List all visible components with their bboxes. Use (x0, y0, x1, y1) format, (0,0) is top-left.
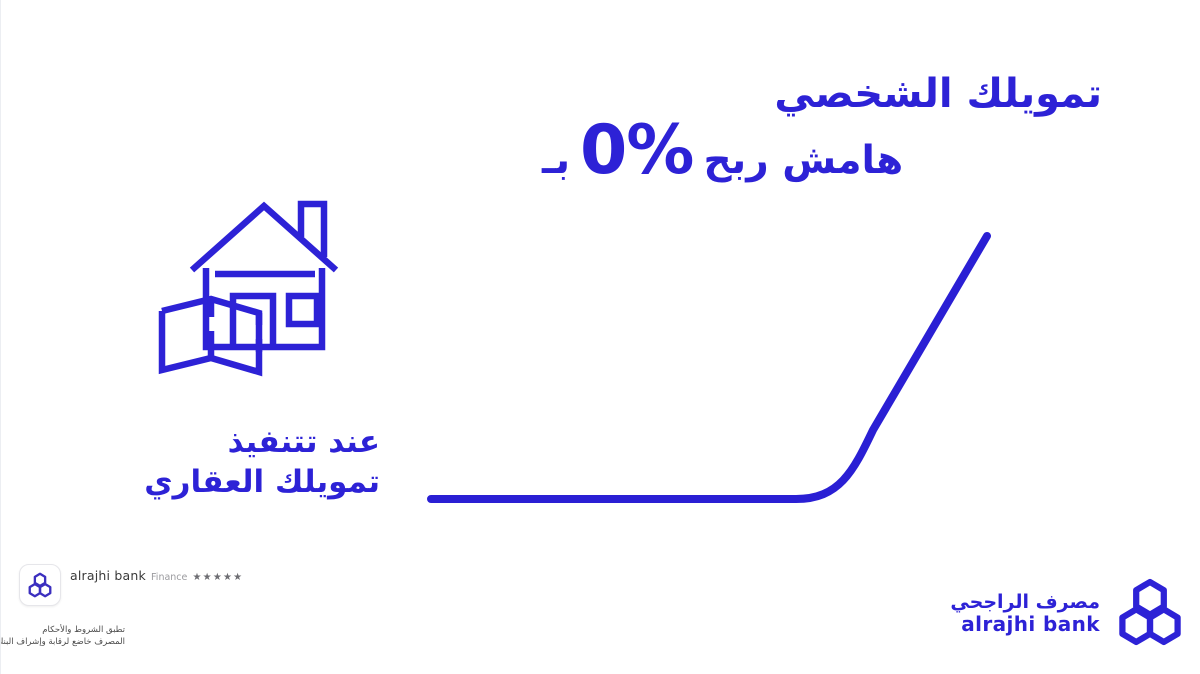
growth-curve-path (431, 236, 987, 499)
disclaimer-line-2: المصرف خاضع لرقابة وإشراف البنك المركزي … (1, 636, 125, 648)
house-walls (206, 268, 322, 347)
alrajhi-trefoil-icon (19, 564, 61, 606)
brand-name-arabic: مصرف الراجحي (950, 592, 1100, 613)
app-category: Finance (151, 572, 187, 583)
headline-percent-value: 0% (580, 120, 693, 181)
app-badge-meta: alrajhi bank Finance ★★★★★ (70, 564, 243, 584)
left-caption-line-2: تمويلك العقاري (50, 462, 380, 502)
house-door (233, 296, 273, 347)
left-caption: عند تتنفيذ تمويلك العقاري (50, 422, 380, 503)
house-roof (192, 206, 336, 270)
brand-wordmark: مصرف الراجحي alrajhi bank (950, 592, 1100, 636)
headline: تمويلك الشخصي هامش ربح 0% بـ (542, 74, 1102, 181)
house-and-map-icon (149, 192, 385, 382)
headline-prefix-text: بـ (542, 141, 570, 180)
brand-name-english: alrajhi bank (950, 613, 1100, 635)
app-rating-stars: ★★★★★ (192, 572, 243, 583)
alrajhi-trefoil-logo (1114, 576, 1186, 652)
left-caption-line-1: عند تتنفيذ (50, 422, 380, 462)
headline-line-2: هامش ربح 0% بـ (542, 120, 1102, 181)
app-name: alrajhi bank (70, 568, 146, 583)
disclaimer-text: تطبق الشروط والأحكام المصرف خاضع لرقابة … (1, 624, 125, 649)
disclaimer-line-1: تطبق الشروط والأحكام (1, 624, 125, 636)
house-window (289, 296, 317, 324)
app-store-badge[interactable]: alrajhi bank Finance ★★★★★ (19, 564, 243, 606)
headline-rest-text: هامش ربح (703, 141, 903, 180)
advertisement-canvas: تمويلك الشخصي هامش ربح 0% بـ عند تتنفيذ … (0, 0, 1200, 674)
brand-lockup: مصرف الراجحي alrajhi bank (950, 576, 1186, 652)
headline-line-1: تمويلك الشخصي (542, 74, 1102, 114)
